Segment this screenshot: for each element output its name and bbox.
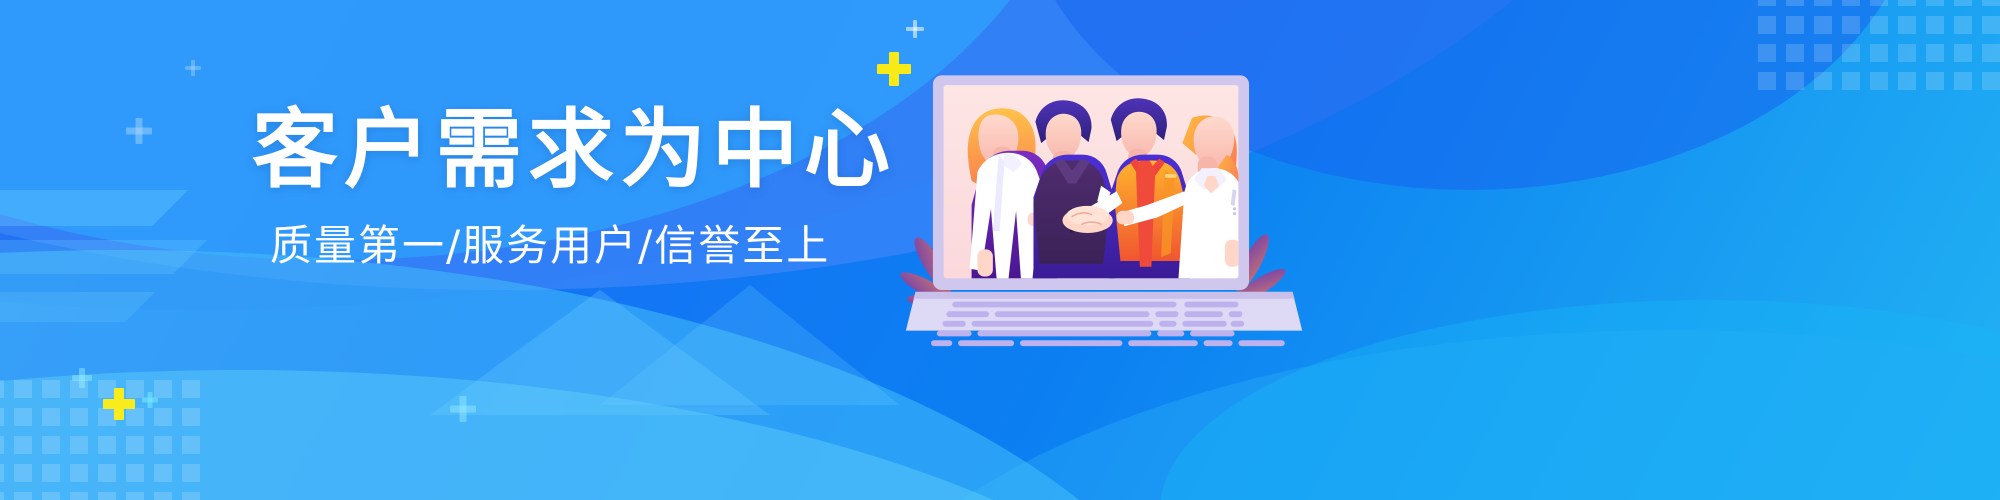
triangle-accent-2 xyxy=(600,285,900,405)
banner-headline: 客户需求为中心 xyxy=(252,104,896,197)
banner-subheadline: 质量第一/服务用户/信誉至上 xyxy=(270,223,896,269)
banner-text-block: 客户需求为中心 质量第一/服务用户/信誉至上 xyxy=(252,104,896,269)
laptop-base xyxy=(906,292,1302,346)
dot-grid-bottom-left xyxy=(0,380,200,500)
plus-sparkle-icon xyxy=(185,60,201,76)
team-laptop-illustration xyxy=(905,58,1305,348)
plus-sparkle-icon xyxy=(906,20,924,38)
plus-sparkle-icon xyxy=(126,118,152,144)
background-wave-right-bottom xyxy=(820,330,2000,500)
chevron-stripe-left-1 xyxy=(0,190,188,226)
chevron-stripe-left-2 xyxy=(0,240,207,274)
chevron-stripe-left-3 xyxy=(0,292,155,322)
plus-sparkle-icon xyxy=(450,396,476,422)
dot-grid-top-right xyxy=(1758,0,2000,90)
plus-sparkle-icon xyxy=(142,392,158,408)
promo-banner: 客户需求为中心 质量第一/服务用户/信誉至上 xyxy=(0,0,2000,500)
plus-sparkle-icon xyxy=(72,368,92,388)
plus-sparkle-icon xyxy=(103,388,135,420)
